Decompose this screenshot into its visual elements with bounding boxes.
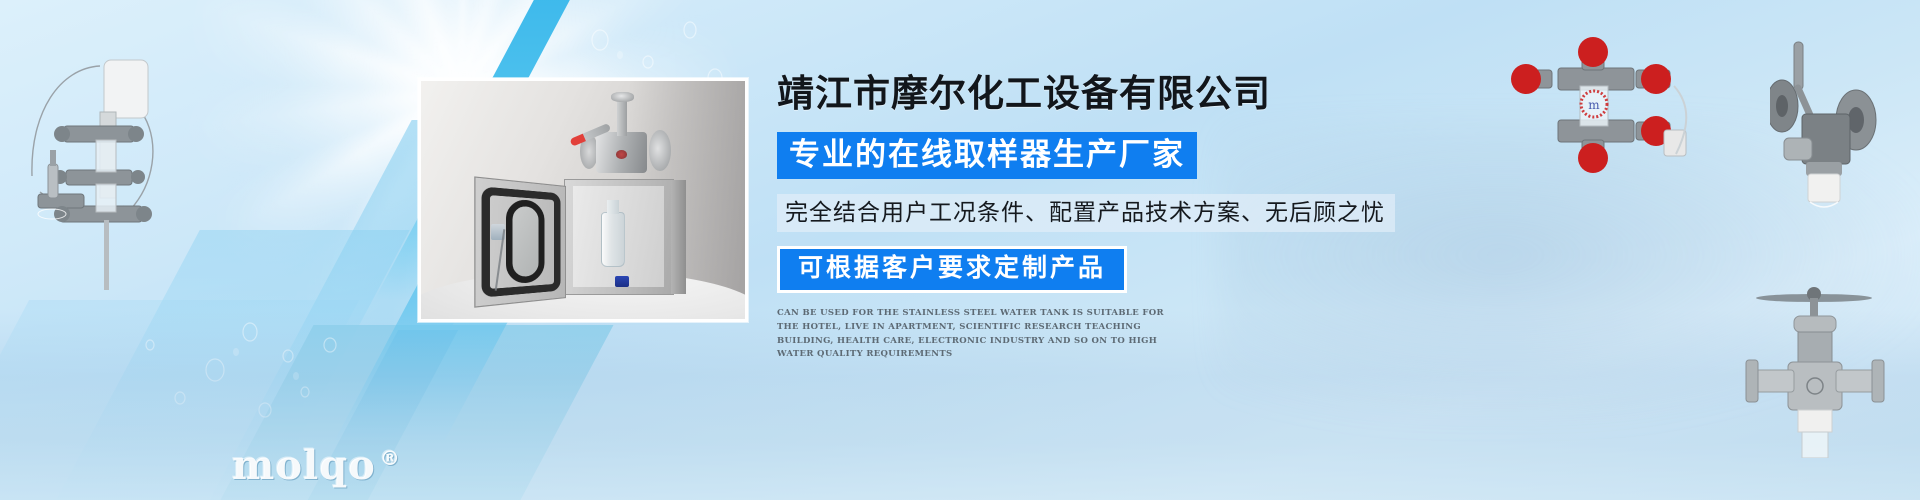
right-top-equipment-illustration: m [1496, 34, 1696, 174]
company-title: 靖江市摩尔化工设备有限公司 [777, 72, 1417, 115]
headline-highlight: 专业的在线取样器生产厂家 [777, 132, 1197, 179]
sub-headline: 完全结合用户工况条件、配置产品技术方案、无后顾之忧 [777, 194, 1395, 233]
center-product-photo [418, 78, 748, 322]
custom-product-cta[interactable]: 可根据客户要求定制产品 [777, 246, 1127, 293]
left-equipment-illustration [4, 24, 172, 292]
right-corner-equipment-illustration [1770, 28, 1920, 218]
registered-trademark-icon: ® [380, 446, 401, 470]
brand-watermark: molqo® [232, 442, 401, 489]
english-description: CAN BE USED FOR THE STAINLESS STEEL WATE… [777, 307, 1182, 362]
svg-text:m: m [1588, 98, 1600, 112]
promo-banner: m 靖江市摩尔化工设备有限公司 专业的在线取样器生产厂家 完全结合 [0, 0, 1920, 500]
brand-wordmark-text: molqo [232, 442, 376, 489]
right-bottom-equipment-illustration [1740, 268, 1920, 458]
banner-text-block: 靖江市摩尔化工设备有限公司 专业的在线取样器生产厂家 完全结合用户工况条件、配置… [777, 72, 1417, 362]
